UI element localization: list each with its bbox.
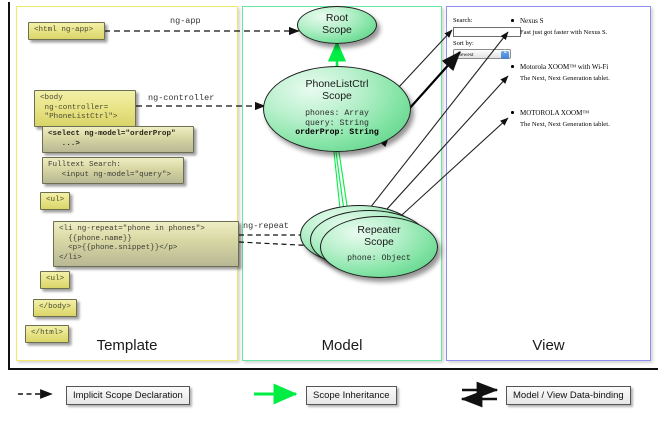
phone-snippet: The Next, Next Generation tablet. <box>520 75 610 82</box>
view-rendered-page: Search: Sort by: Newest ⇅ Nexus S Fast j… <box>451 15 647 315</box>
scope-prop-phone: phone: Object <box>321 254 437 264</box>
column-model: Model <box>242 6 442 361</box>
column-model-label: Model <box>243 337 441 354</box>
scope-phonelistctrl: PhoneListCtrl Scope phones: Array query:… <box>263 66 411 152</box>
code-box-body-tag: <body ng-controller= "PhoneListCtrl"> <box>34 90 136 127</box>
sort-by-selected-value: Newest <box>457 52 474 58</box>
scope-phonelistctrl-title-line1: PhoneListCtrl <box>264 78 410 90</box>
phone-name: Nexus S <box>520 17 544 25</box>
scope-prop-query: query: String <box>264 119 410 129</box>
bullet-icon <box>511 19 514 22</box>
phone-snippet: Fast just got faster with Nexus S. <box>520 29 607 36</box>
scope-root: Root Scope <box>297 6 377 44</box>
bullet-icon <box>511 65 514 68</box>
bullet-icon <box>511 111 514 114</box>
scope-phonelistctrl-title-line2: Scope <box>264 90 410 102</box>
scope-repeater: Repeater Scope phone: Object <box>320 216 438 278</box>
scope-prop-phones: phones: Array <box>264 109 410 119</box>
sort-by-label: Sort by: <box>453 40 474 47</box>
edge-label-ng-repeat: ng-repeat <box>243 221 289 231</box>
scope-root-title-line1: Root <box>298 12 376 24</box>
edge-label-ng-app: ng-app <box>170 16 201 26</box>
phone-name: MOTOROLA XOOM™ <box>520 109 589 117</box>
column-view: View Search: Sort by: Newest ⇅ Nexus S F… <box>446 6 651 361</box>
code-box-html-tag: <html ng-app> <box>28 22 105 40</box>
code-box-body-close: </body> <box>33 299 77 317</box>
scope-repeater-title-line1: Repeater <box>321 224 437 236</box>
diagram-canvas: Template Model View Search: Sort by: New… <box>0 0 661 425</box>
code-box-html-close: </html> <box>25 325 69 343</box>
phone-name: Motorola XOOM™ with Wi-Fi <box>520 63 608 71</box>
code-box-fulltext-search: Fulltext Search: <input ng-model="query"… <box>42 157 184 184</box>
code-box-select-tag: <select ng-model="orderProp" ...> <box>42 126 194 153</box>
code-box-li-ng-repeat: <li ng-repeat="phone in phones"> {{phone… <box>53 221 239 267</box>
scope-root-title-line2: Scope <box>298 24 376 36</box>
column-view-label: View <box>447 337 650 354</box>
scope-repeater-title-line2: Scope <box>321 236 437 248</box>
edge-label-ng-controller: ng-controller <box>148 93 214 103</box>
search-label: Search: <box>453 17 473 24</box>
scope-prop-orderprop: orderProp: String <box>264 128 410 138</box>
sort-by-select[interactable]: Newest ⇅ <box>453 49 511 59</box>
legend-label-scope-inheritance: Scope Inheritance <box>306 386 397 405</box>
search-input[interactable] <box>453 27 521 37</box>
legend: Implicit Scope Declaration Scope Inherit… <box>0 376 661 425</box>
chevron-updown-icon: ⇅ <box>501 51 509 59</box>
code-box-ul-close: <ul> <box>40 271 70 289</box>
legend-label-implicit-scope-declaration: Implicit Scope Declaration <box>66 386 190 405</box>
phone-snippet: The Next, Next Generation tablet. <box>520 121 610 128</box>
code-box-ul-open: <ul> <box>40 192 70 210</box>
legend-label-model-view-data-binding: Model / View Data-binding <box>506 386 631 405</box>
